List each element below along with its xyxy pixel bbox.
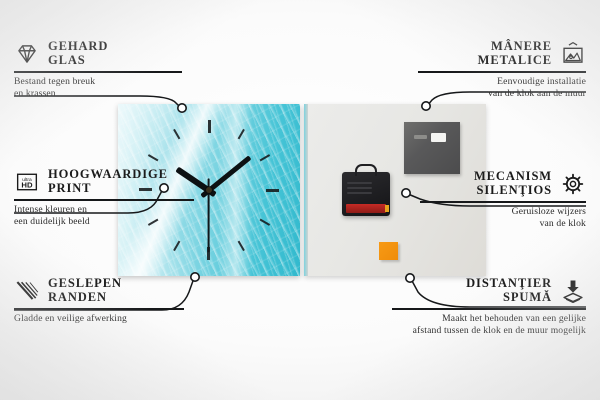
bevelled-edges-icon bbox=[14, 278, 40, 304]
feature-title-line2: RANDEN bbox=[48, 290, 107, 304]
clock-tick bbox=[209, 189, 279, 191]
feature-desc-line1: Gladde en veilige afwerking bbox=[14, 313, 127, 324]
ultra-hd-icon: ultra HD bbox=[14, 169, 40, 195]
feature-desc-line1: Eenvoudige installatie bbox=[497, 76, 586, 87]
feature-title-line1: DISTANŢIER bbox=[466, 276, 552, 290]
clock-tick bbox=[208, 120, 210, 190]
feature-gehard-glas: GEHARD GLAS Bestand tegen breuk en krass… bbox=[14, 40, 182, 101]
clock-tick bbox=[208, 190, 210, 260]
hanger-slot bbox=[414, 133, 448, 141]
feature-desc-line1: Intense kleuren en bbox=[14, 204, 87, 215]
title-underline bbox=[14, 308, 184, 310]
title-underline bbox=[420, 201, 586, 203]
title-underline bbox=[14, 71, 182, 73]
feature-title-line2: GLAS bbox=[48, 53, 86, 67]
quartz-movement bbox=[342, 172, 390, 216]
feature-title-line1: HOOGWAARDIGE bbox=[48, 167, 168, 181]
feature-title-line2: PRINT bbox=[48, 181, 91, 195]
feature-desc-line1: Maakt het behouden van een gelijke bbox=[442, 313, 586, 324]
panel-edge bbox=[304, 104, 308, 276]
title-underline bbox=[392, 308, 586, 310]
feature-desc-line2: een duidelijk beeld bbox=[14, 216, 90, 227]
feature-manere-metalice: MÂNERE METALICE Eenvoudige installatie v… bbox=[418, 40, 586, 101]
feature-desc-line2: van de klok bbox=[540, 218, 586, 229]
picture-frame-icon bbox=[560, 41, 586, 67]
feature-distantier-spuma: DISTANŢIER SPUMĂ Maakt het behouden van … bbox=[392, 277, 586, 338]
feature-desc-line2: afstand tussen de klok en de muur mogeli… bbox=[413, 325, 586, 336]
diamond-icon bbox=[14, 41, 40, 67]
feature-title-line2: SILENŢIOS bbox=[477, 183, 553, 197]
feature-title-line1: GESLEPEN bbox=[48, 276, 122, 290]
feature-title-line2: SPUMĂ bbox=[503, 290, 552, 304]
feature-title-line1: MECANISM bbox=[474, 169, 552, 183]
gear-icon bbox=[560, 171, 586, 197]
aa-battery bbox=[346, 204, 386, 213]
feature-title-line2: METALICE bbox=[478, 53, 552, 67]
feature-desc-line1: Geruisloze wijzers bbox=[512, 206, 586, 217]
infographic-canvas: GEHARD GLAS Bestand tegen breuk en krass… bbox=[0, 0, 600, 400]
clock-tick bbox=[208, 129, 245, 191]
feature-desc-line1: Bestand tegen breuk bbox=[14, 76, 95, 87]
feature-mecanism-silentios: MECANISM SILENŢIOS Geruisloze wijzers va… bbox=[420, 170, 586, 231]
svg-text:HD: HD bbox=[21, 180, 33, 189]
hanger-loop bbox=[355, 164, 377, 176]
title-underline bbox=[418, 71, 586, 73]
feature-desc-line2: van de klok aan de muur bbox=[488, 88, 586, 99]
title-underline bbox=[14, 199, 194, 201]
feature-title-line1: GEHARD bbox=[48, 39, 108, 53]
feature-hoogwaardige-print: ultra HD HOOGWAARDIGE PRINT Intense kleu… bbox=[14, 168, 194, 229]
feature-title-line1: MÂNERE bbox=[491, 39, 552, 53]
feature-geslepen-randen: GESLEPEN RANDEN Gladde en veilige afwerk… bbox=[14, 277, 184, 325]
feature-desc-line2: en krassen bbox=[14, 88, 56, 99]
metal-hanger-plate bbox=[404, 122, 460, 174]
press-down-layers-icon bbox=[560, 278, 586, 304]
foam-spacer bbox=[379, 242, 398, 260]
